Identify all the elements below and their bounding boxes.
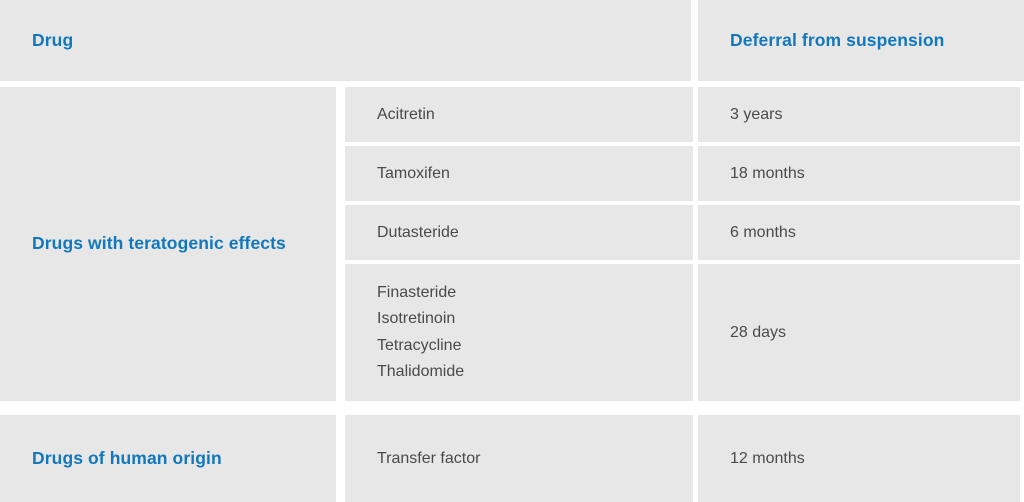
group-label-human-origin: Drugs of human origin [0, 415, 336, 502]
drug-name: Finasteride [377, 280, 677, 306]
table-row: Acitretin [345, 87, 693, 142]
column-header-deferral-label: Deferral from suspension [730, 30, 944, 50]
deferral-value: 6 months [730, 224, 796, 241]
deferral-value: 3 years [730, 106, 782, 123]
deferral-value-cell: 6 months [698, 205, 1020, 260]
drug-name: Tamoxifen [377, 165, 450, 182]
drug-name: Thalidomide [377, 359, 677, 385]
drug-deferral-table: Drug Deferral from suspension Drugs with… [0, 0, 1024, 502]
deferral-value-cell: 12 months [698, 415, 1020, 502]
drug-name: Transfer factor [377, 450, 480, 467]
group-label-human-origin-text: Drugs of human origin [32, 448, 222, 468]
group-label-teratogenic: Drugs with teratogenic effects [0, 87, 336, 401]
table-row: Finasteride Isotretinoin Tetracycline Th… [345, 264, 693, 401]
deferral-value-cell: 3 years [698, 87, 1020, 142]
deferral-value-cell: 18 months [698, 146, 1020, 201]
deferral-value-cell: 28 days [698, 264, 1020, 401]
column-header-drug: Drug [0, 0, 691, 81]
deferral-value: 18 months [730, 165, 805, 182]
deferral-value: 28 days [730, 324, 786, 341]
table-row: Transfer factor [345, 415, 693, 502]
drug-name: Isotretinoin [377, 306, 677, 332]
drug-name: Dutasteride [377, 224, 459, 241]
drug-name: Tetracycline [377, 333, 677, 359]
deferral-value: 12 months [730, 450, 805, 467]
drug-name-list: Finasteride Isotretinoin Tetracycline Th… [377, 280, 677, 386]
group-label-teratogenic-text: Drugs with teratogenic effects [32, 233, 286, 253]
table-row: Tamoxifen [345, 146, 693, 201]
drug-name: Acitretin [377, 106, 435, 123]
table-row: Dutasteride [345, 205, 693, 260]
column-header-deferral: Deferral from suspension [698, 0, 1024, 81]
column-header-drug-label: Drug [32, 30, 73, 50]
